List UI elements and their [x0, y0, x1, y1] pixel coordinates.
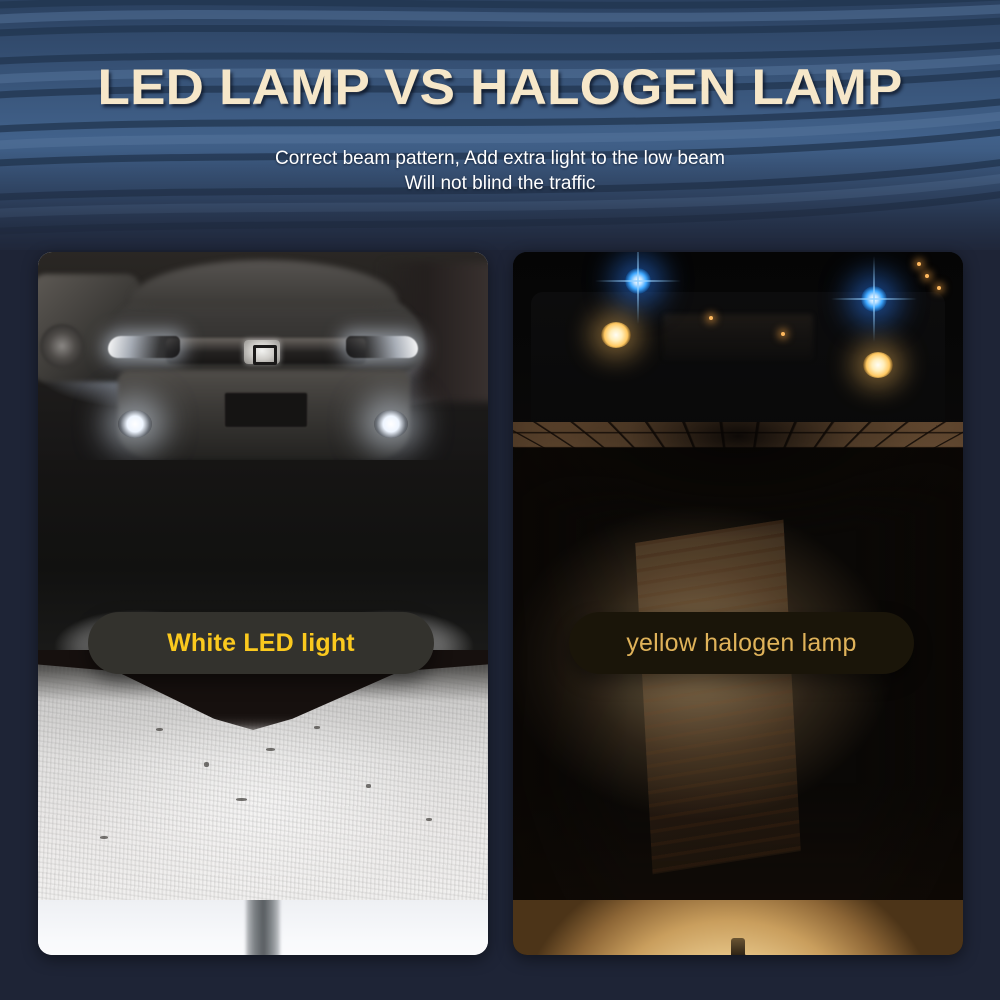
background-wave-pattern — [0, 0, 1000, 250]
page-subtitle: Correct beam pattern, Add extra light to… — [0, 146, 1000, 196]
halogen-comparison-panel — [513, 252, 963, 955]
halogen-vehicle-night-photo — [513, 252, 963, 437]
adjacent-car-wheel — [40, 324, 84, 368]
blue-marker-light-right — [861, 286, 887, 312]
left-fog-light — [118, 410, 152, 438]
right-led-headlight — [346, 336, 418, 358]
asphalt-speck — [426, 818, 432, 821]
asphalt-speck — [266, 748, 275, 751]
halogen-glass-tip — [731, 938, 745, 955]
led-bulb-stem — [246, 900, 280, 955]
led-label-text: White LED light — [167, 629, 355, 658]
subtitle-line-1: Correct beam pattern, Add extra light to… — [275, 148, 725, 169]
distant-city-light — [709, 316, 713, 320]
halogen-bulb-photo — [513, 900, 963, 955]
page-title: LED LAMP VS HALOGEN LAMP — [0, 58, 1000, 116]
vehicle-grille — [663, 314, 813, 360]
asphalt-speck — [156, 728, 163, 731]
honda-emblem-icon — [244, 340, 280, 364]
left-led-headlight — [108, 336, 180, 358]
blue-marker-light-left — [625, 268, 651, 294]
distant-city-light — [917, 262, 921, 266]
asphalt-speck — [366, 784, 371, 788]
led-comparison-panel — [38, 252, 488, 955]
asphalt-speck — [100, 836, 108, 839]
yellow-halogen-light-left — [601, 322, 631, 348]
license-plate — [224, 392, 308, 428]
halogen-label-text: yellow halogen lamp — [626, 629, 856, 658]
distant-city-light — [937, 286, 941, 290]
halogen-label-pill: yellow halogen lamp — [569, 612, 914, 674]
civic-night-photo — [38, 252, 488, 657]
product-comparison-graphic: LED LAMP VS HALOGEN LAMP Correct beam pa… — [0, 0, 1000, 1000]
asphalt-speck — [236, 798, 247, 801]
led-bulb-photo — [38, 900, 488, 955]
asphalt-speck — [314, 726, 320, 729]
led-beam-pattern-photo — [38, 650, 488, 908]
asphalt-speck — [204, 762, 209, 767]
distant-city-light — [781, 332, 785, 336]
led-label-pill: White LED light — [88, 612, 434, 674]
distant-city-light — [925, 274, 929, 278]
subtitle-line-2: Will not blind the traffic — [0, 171, 1000, 196]
right-fog-light — [374, 410, 408, 438]
car-hood — [130, 260, 398, 306]
yellow-halogen-light-right — [863, 352, 893, 378]
